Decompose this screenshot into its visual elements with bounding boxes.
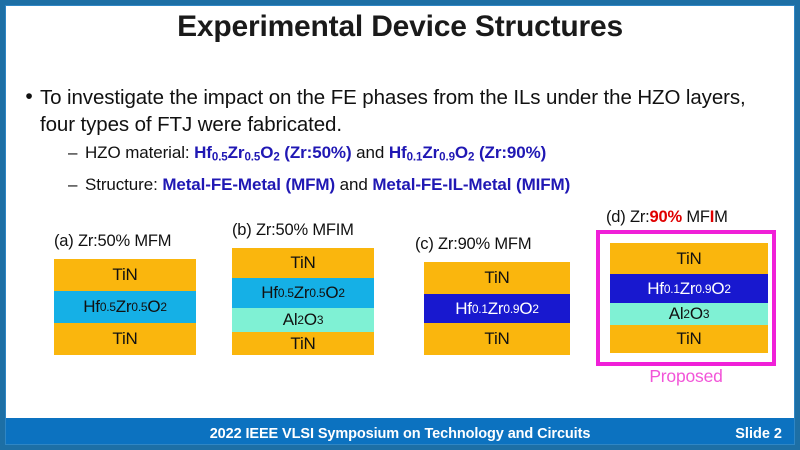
formula-element-o: O (690, 304, 703, 324)
formula-sub-o: 2 (532, 302, 538, 316)
body-bullet-block: • To investigate the impact on the FE ph… (18, 84, 780, 197)
formula-element-o: O (304, 310, 317, 330)
sub-bullet-dash-icon: – (68, 141, 85, 165)
device-b-layer-hzo: Hf0.5Zr0.5O2 (232, 278, 374, 308)
bullet-item-main: • To investigate the impact on the FE ph… (18, 84, 780, 138)
device-d-caption-part1: (d) Zr: (606, 208, 650, 226)
device-a-layer-top-tin: TiN (54, 259, 196, 291)
formula-sub-hf: 0.1 (664, 282, 680, 296)
hzo50-hf: Hf (194, 143, 212, 162)
hzo90-zr: Zr (422, 143, 439, 162)
hzo90-hf-sub: 0.1 (407, 152, 423, 164)
device-c-caption: (c) Zr:90% MFM (415, 235, 531, 254)
device-c-layer-top-tin: TiN (424, 262, 570, 294)
page-title: Experimental Device Structures (0, 10, 800, 44)
formula-element-hf: Hf (261, 283, 278, 303)
formula-sub-zr: 0.5 (131, 300, 147, 314)
structure-mfm: Metal-FE-Metal (MFM) (162, 175, 335, 194)
device-d-caption-zr-percent: 90% (650, 208, 682, 226)
formula-element-al: Al (283, 310, 298, 330)
structure-prefix: Structure: (85, 175, 162, 194)
formula-sub-o: 3 (703, 307, 709, 321)
hzo-formula-zr50: Hf0.5Zr0.5O2 (Zr:50%) (194, 143, 351, 162)
device-d-layer-top-tin: TiN (610, 243, 768, 274)
hzo90-o: O (455, 143, 468, 162)
sub-bullet-hzo-material: – HZO material: Hf0.5Zr0.5O2 (Zr:50%) an… (18, 141, 780, 170)
device-c-layer-hzo: Hf0.1Zr0.9O2 (424, 294, 570, 323)
sub-bullet-structure-text: Structure: Metal-FE-Metal (MFM) and Meta… (85, 173, 570, 197)
formula-sub-o: 2 (160, 300, 166, 314)
device-d-caption: (d) Zr:90% MFIM (606, 208, 728, 227)
formula-element-hf: Hf (647, 279, 664, 299)
hzo50-tail: (Zr:50%) (280, 143, 352, 162)
hzo50-o: O (260, 143, 273, 162)
formula-element-o: O (711, 279, 724, 299)
hzo50-hf-sub: 0.5 (212, 152, 228, 164)
formula-element-zr: Zr (116, 297, 132, 317)
hzo90-tail: (Zr:90%) (474, 143, 546, 162)
formula-sub-hf: 0.1 (472, 302, 488, 316)
hzo-formula-zr90: Hf0.1Zr0.9O2 (Zr:90%) (389, 143, 546, 162)
bullet-main-text: To investigate the impact on the FE phas… (40, 84, 780, 138)
formula-sub-hf: 0.5 (278, 286, 294, 300)
device-a-caption: (a) Zr:50% MFM (54, 232, 171, 251)
device-d-caption-part3: M (714, 208, 728, 226)
proposed-label: Proposed (596, 366, 776, 387)
device-b-caption: (b) Zr:50% MFIM (232, 221, 354, 240)
formula-element-zr: Zr (294, 283, 310, 303)
formula-element-hf: Hf (455, 299, 472, 319)
formula-sub-o: 3 (317, 313, 323, 327)
bullet-marker-icon: • (18, 84, 40, 110)
sub-bullet-dash-icon-2: – (68, 173, 85, 197)
device-b-layer-bottom-tin: TiN (232, 332, 374, 355)
footer-bar: 2022 IEEE VLSI Symposium on Technology a… (0, 418, 800, 450)
formula-sub-o: 2 (724, 282, 730, 296)
sub-bullet-structure: – Structure: Metal-FE-Metal (MFM) and Me… (18, 173, 780, 197)
device-c-stack: TiN Hf0.1Zr0.9O2 TiN (424, 262, 570, 355)
hzo90-hf: Hf (389, 143, 407, 162)
formula-element-o: O (325, 283, 338, 303)
device-d-caption-part2: MF (682, 208, 710, 226)
hzo50-zr: Zr (228, 143, 245, 162)
formula-sub-zr: 0.9 (695, 282, 711, 296)
formula-sub-zr: 0.5 (309, 286, 325, 300)
proposed-highlight-box: TiN Hf0.1Zr0.9O2 Al2O3 TiN (596, 230, 776, 366)
device-c-layer-bottom-tin: TiN (424, 323, 570, 355)
device-b-layer-top-tin: TiN (232, 248, 374, 278)
footer-slide-number: Slide 2 (735, 418, 782, 450)
structure-mifm: Metal-FE-IL-Metal (MIFM) (372, 175, 570, 194)
device-b-stack: TiN Hf0.5Zr0.5O2 Al2O3 TiN (232, 248, 374, 355)
slide-canvas: Experimental Device Structures • To inve… (0, 0, 800, 450)
formula-element-o: O (147, 297, 160, 317)
footer-conference-title: 2022 IEEE VLSI Symposium on Technology a… (0, 418, 800, 450)
sub-bullet-hzo-material-text: HZO material: Hf0.5Zr0.5O2 (Zr:50%) and … (85, 141, 546, 170)
formula-element-al: Al (669, 304, 684, 324)
formula-element-zr: Zr (488, 299, 504, 319)
formula-sub-o: 2 (338, 286, 344, 300)
formula-element-hf: Hf (83, 297, 100, 317)
hzo-material-joiner: and (352, 143, 389, 162)
hzo50-zr-sub: 0.5 (244, 152, 260, 164)
device-a-layer-bottom-tin: TiN (54, 323, 196, 355)
device-b-layer-al2o3: Al2O3 (232, 308, 374, 332)
device-a-stack: TiN Hf0.5Zr0.5O2 TiN (54, 259, 196, 355)
device-d-layer-al2o3: Al2O3 (610, 303, 768, 325)
hzo-material-prefix: HZO material: (85, 143, 194, 162)
structure-joiner: and (335, 175, 372, 194)
formula-sub-hf: 0.5 (100, 300, 116, 314)
device-d-layer-bottom-tin: TiN (610, 325, 768, 353)
device-d-stack: TiN Hf0.1Zr0.9O2 Al2O3 TiN (610, 243, 768, 353)
hzo90-zr-sub: 0.9 (439, 152, 455, 164)
formula-element-o: O (519, 299, 532, 319)
device-a-layer-hzo: Hf0.5Zr0.5O2 (54, 291, 196, 323)
device-d-layer-hzo: Hf0.1Zr0.9O2 (610, 274, 768, 303)
formula-element-zr: Zr (680, 279, 696, 299)
formula-sub-zr: 0.9 (503, 302, 519, 316)
